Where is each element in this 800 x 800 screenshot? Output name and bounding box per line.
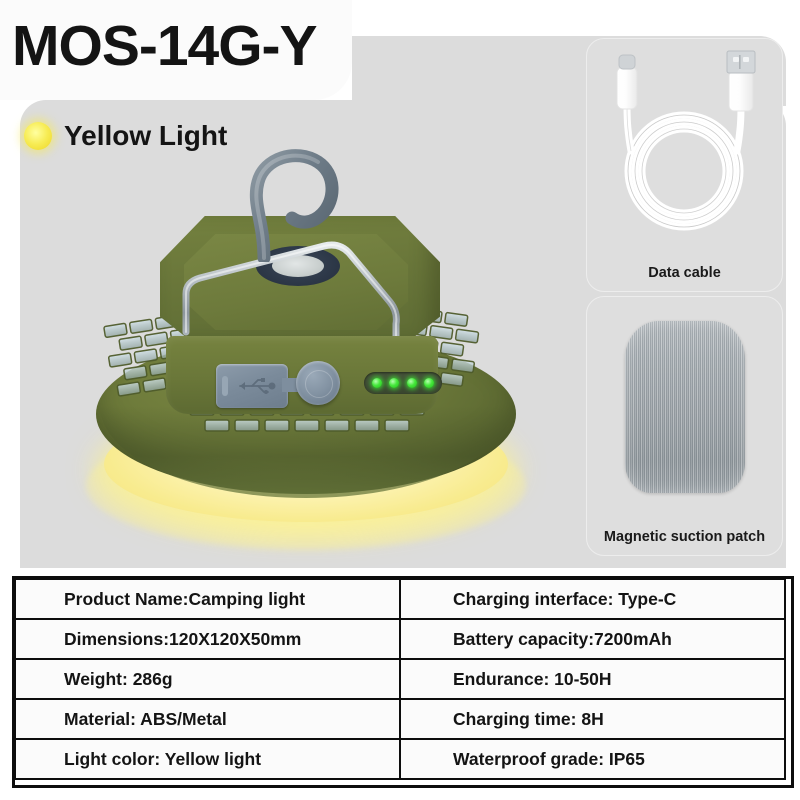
table-row: Light color: Yellow light Waterproof gra… xyxy=(15,739,785,779)
spec-cell-right: Battery capacity:7200mAh xyxy=(400,619,785,659)
spec-cell-right: Endurance: 10-50H xyxy=(400,659,785,699)
brand-badge xyxy=(256,246,340,286)
table-row: Product Name:Camping light Charging inte… xyxy=(15,579,785,619)
metal-plate-icon xyxy=(625,321,745,493)
yellow-light-dot-icon xyxy=(24,122,52,150)
camping-light-illustration xyxy=(34,130,574,560)
accessory-caption-magnetic-patch: Magnetic suction patch xyxy=(587,529,782,545)
accessory-card-data-cable: Data cable xyxy=(586,38,783,292)
spec-cell-left: Dimensions:120X120X50mm xyxy=(15,619,400,659)
battery-led-2 xyxy=(389,378,399,388)
battery-led-4 xyxy=(424,378,434,388)
product-infographic: MOS-14G-Y Yellow Light xyxy=(0,0,800,800)
title-banner: MOS-14G-Y xyxy=(0,0,352,100)
power-button[interactable] xyxy=(296,361,340,405)
spec-cell-left: Weight: 286g xyxy=(15,659,400,699)
usb-port-cover[interactable] xyxy=(216,364,288,408)
spec-table-body: Product Name:Camping light Charging inte… xyxy=(15,579,785,779)
battery-led-3 xyxy=(407,378,417,388)
battery-led-1 xyxy=(372,378,382,388)
accessory-card-magnetic-patch: Magnetic suction patch xyxy=(586,296,783,556)
spec-cell-right: Charging interface: Type-C xyxy=(400,579,785,619)
table-row: Material: ABS/Metal Charging time: 8H xyxy=(15,699,785,739)
table-row: Dimensions:120X120X50mm Battery capacity… xyxy=(15,619,785,659)
light-variant-text: Yellow Light xyxy=(64,120,227,152)
spec-cell-right: Charging time: 8H xyxy=(400,699,785,739)
accessory-caption-data-cable: Data cable xyxy=(587,265,782,281)
spec-cell-right: Waterproof grade: IP65 xyxy=(400,739,785,779)
usb-icon xyxy=(236,376,280,396)
usb-cable-icon xyxy=(587,45,782,253)
light-variant-label: Yellow Light xyxy=(24,120,227,152)
spec-cell-left: Material: ABS/Metal xyxy=(15,699,400,739)
usb-cover-pull-tab xyxy=(222,376,228,396)
battery-indicator-strip xyxy=(364,372,442,394)
brand-badge-inner xyxy=(272,255,324,277)
spec-cell-left: Light color: Yellow light xyxy=(15,739,400,779)
spec-cell-left: Product Name:Camping light xyxy=(15,579,400,619)
table-row: Weight: 286g Endurance: 10-50H xyxy=(15,659,785,699)
specification-table: Product Name:Camping light Charging inte… xyxy=(14,578,786,780)
page-title: MOS-14G-Y xyxy=(12,18,317,75)
